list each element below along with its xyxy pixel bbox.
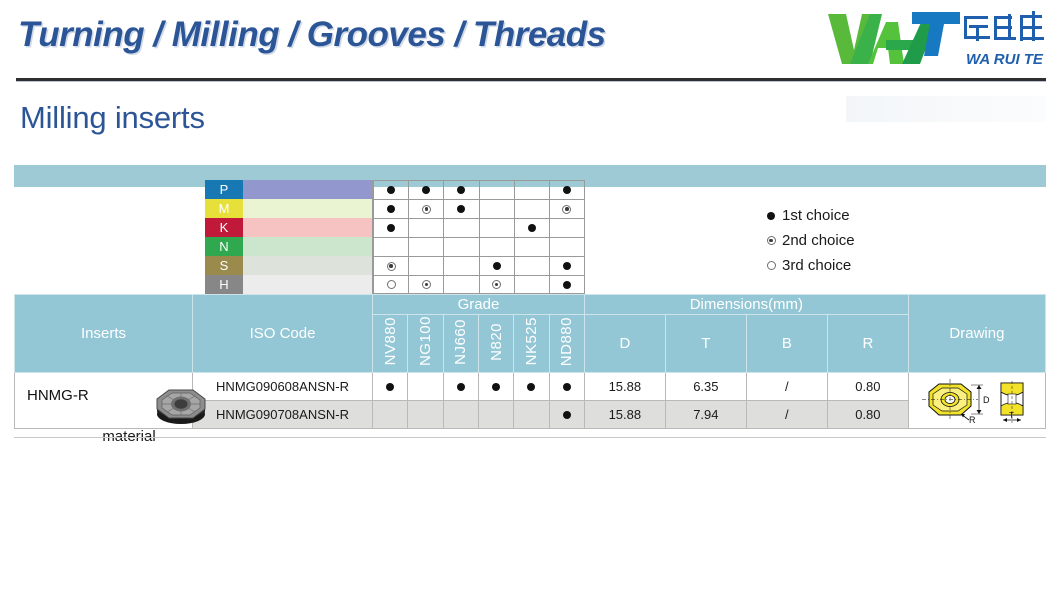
work-material-cell — [374, 238, 409, 256]
work-material-cell — [550, 200, 585, 218]
work-material-cell — [480, 200, 515, 218]
mark-first-choice — [528, 224, 536, 232]
work-material-cell — [374, 181, 409, 199]
work-material-cell — [374, 276, 409, 293]
material-swatch — [243, 180, 373, 199]
work-material-cell — [480, 181, 515, 199]
mark-second-choice — [387, 262, 396, 271]
work-material-cell — [444, 181, 479, 199]
material-code-s: S — [205, 256, 243, 275]
company-logo: WA RUI TE — [824, 6, 1048, 72]
page-title: Milling inserts — [20, 100, 205, 136]
work-material-row: M — [205, 199, 585, 218]
work-material-cell — [374, 219, 409, 237]
grade-cell — [514, 373, 549, 401]
col-header-inserts: Inserts — [15, 295, 193, 373]
work-material-cell — [515, 276, 550, 293]
work-material-cell — [409, 276, 444, 293]
work-material-row: S — [205, 256, 585, 275]
material-swatch — [243, 199, 373, 218]
grade-cell — [549, 401, 584, 429]
grade-cell — [443, 401, 478, 429]
logo-text-en: WA RUI TE — [966, 51, 1044, 68]
work-material-cell — [444, 200, 479, 218]
work-material-cell — [515, 181, 550, 199]
legend-marker — [760, 261, 782, 270]
grade-cell — [373, 401, 408, 429]
work-material-cell — [515, 200, 550, 218]
table-row: HNMG-R HNMG090608ANSN-R15.886.35/0.80 D … — [15, 373, 1046, 401]
table-body: HNMG-R HNMG090608ANSN-R15.886.35/0.80 D … — [15, 373, 1046, 429]
mark-first-choice — [422, 186, 430, 194]
insert-photo — [143, 378, 219, 426]
mark-second-choice — [562, 205, 571, 214]
mark-second-choice — [422, 205, 431, 214]
dimension-cell-t: 7.94 — [665, 401, 746, 429]
work-material-cell — [444, 257, 479, 275]
mark-first-choice — [527, 383, 535, 391]
grade-column-header: N820 — [478, 315, 513, 373]
material-swatch — [243, 237, 373, 256]
grade-column-header: NK525 — [514, 315, 549, 373]
dimension-cell-t: 6.35 — [665, 373, 746, 401]
work-material-row: P — [205, 180, 585, 199]
grade-cell — [478, 401, 513, 429]
mark-first-choice — [387, 186, 395, 194]
legend-label: 3rd choice — [782, 257, 851, 274]
drawing-cell: D R T — [908, 373, 1045, 429]
work-material-cell — [515, 257, 550, 275]
material-swatch — [243, 275, 373, 294]
mark-first-choice — [563, 262, 571, 270]
decorative-strip — [846, 96, 1046, 122]
mark-first-choice — [563, 281, 571, 289]
work-material-cell — [374, 200, 409, 218]
legend-marker — [760, 212, 782, 220]
work-material-cell — [444, 238, 479, 256]
mark-first-choice — [767, 212, 775, 220]
work-material-cell — [409, 219, 444, 237]
dimension-column-header: R — [827, 315, 908, 373]
dimension-cell-d: 15.88 — [584, 401, 665, 429]
dimension-cell-r: 0.80 — [827, 401, 908, 429]
work-material-cell — [550, 276, 585, 293]
material-swatch — [243, 256, 373, 275]
grade-cell — [373, 373, 408, 401]
insert-family-name: HNMG-R — [27, 387, 89, 404]
dimension-label-r: R — [969, 415, 976, 425]
mark-first-choice — [457, 383, 465, 391]
table-bottom-divider — [14, 437, 1046, 438]
legend-label: 2nd choice — [782, 232, 855, 249]
work-material-cell — [550, 257, 585, 275]
dimension-label-d: D — [983, 395, 990, 405]
mark-third-choice — [767, 261, 776, 270]
work-material-cell — [480, 219, 515, 237]
work-material-cell — [374, 257, 409, 275]
mark-first-choice — [563, 411, 571, 419]
mark-second-choice — [422, 280, 431, 289]
col-header-iso-code: ISO Code — [193, 295, 373, 373]
grade-cell — [514, 401, 549, 429]
header-title: Turning / Milling / Grooves / Threads — [18, 15, 606, 55]
work-material-cell — [444, 276, 479, 293]
dimension-column-header: T — [665, 315, 746, 373]
work-material-cell — [409, 181, 444, 199]
material-code-h: H — [205, 275, 243, 294]
grade-cell — [408, 373, 443, 401]
insert-spec-table: Inserts ISO Code Grade Dimensions(mm) Dr… — [14, 294, 1046, 429]
work-material-cell — [550, 181, 585, 199]
page-header: Turning / Milling / Grooves / Threads — [0, 0, 1060, 82]
mark-first-choice — [563, 186, 571, 194]
dimension-cell-b: / — [746, 401, 827, 429]
mark-first-choice — [563, 383, 571, 391]
grade-column-header: NG100 — [408, 315, 443, 373]
legend-item: 2nd choice — [760, 228, 855, 253]
work-material-cell — [480, 238, 515, 256]
mark-first-choice — [387, 205, 395, 213]
slide-page: Turning / Milling / Grooves / Threads — [0, 0, 1060, 600]
work-material-cell — [515, 238, 550, 256]
col-header-drawing: Drawing — [908, 295, 1045, 373]
work-material-cell — [480, 276, 515, 293]
mark-first-choice — [386, 383, 394, 391]
material-code-n: N — [205, 237, 243, 256]
work-material-cell — [550, 238, 585, 256]
insert-photo-wrap — [143, 378, 219, 426]
work-material-cell — [409, 200, 444, 218]
legend-marker — [760, 236, 782, 245]
dimension-cell-b: / — [746, 373, 827, 401]
legend-label: 1st choice — [782, 207, 850, 224]
grade-column-header: ND880 — [549, 315, 584, 373]
grade-cell — [443, 373, 478, 401]
col-header-grade: Grade — [373, 295, 585, 315]
header-divider — [16, 78, 1046, 81]
work-material-cell — [444, 219, 479, 237]
mark-third-choice — [387, 280, 396, 289]
work-material-cell — [550, 219, 585, 237]
material-code-m: M — [205, 199, 243, 218]
dimension-cell-d: 15.88 — [584, 373, 665, 401]
mark-second-choice — [492, 280, 501, 289]
material-code-p: P — [205, 180, 243, 199]
work-material-row: H — [205, 275, 585, 294]
insert-technical-drawing: D R T — [917, 376, 1035, 426]
work-material-cell — [409, 257, 444, 275]
drawing-art-wrap: D R T — [917, 376, 1035, 426]
choice-legend: 1st choice2nd choice3rd choice — [760, 203, 855, 278]
grade-cell — [549, 373, 584, 401]
work-material-cell — [515, 219, 550, 237]
dimension-column-header: D — [584, 315, 665, 373]
iso-code-cell: HNMG090708ANSN-R — [193, 401, 373, 429]
dimension-column-header: B — [746, 315, 827, 373]
grade-column-header: NV880 — [373, 315, 408, 373]
mark-first-choice — [387, 224, 395, 232]
mark-second-choice — [767, 236, 776, 245]
grade-cell — [408, 401, 443, 429]
material-swatch — [243, 218, 373, 237]
mark-first-choice — [457, 186, 465, 194]
grade-column-header: NJ660 — [443, 315, 478, 373]
work-material-row: N — [205, 237, 585, 256]
mark-first-choice — [457, 205, 465, 213]
dimension-label-t: T — [1009, 411, 1014, 420]
material-code-k: K — [205, 218, 243, 237]
grade-cell — [478, 373, 513, 401]
insert-family-cell: HNMG-R — [15, 373, 193, 429]
legend-item: 3rd choice — [760, 253, 855, 278]
col-header-dimensions: Dimensions(mm) — [584, 295, 908, 315]
dimension-cell-r: 0.80 — [827, 373, 908, 401]
iso-code-cell: HNMG090608ANSN-R — [193, 373, 373, 401]
work-material-cell — [480, 257, 515, 275]
work-material-matrix: PMKNSH — [205, 180, 585, 294]
work-material-row: K — [205, 218, 585, 237]
work-material-cell — [409, 238, 444, 256]
mark-first-choice — [492, 383, 500, 391]
legend-item: 1st choice — [760, 203, 855, 228]
mark-first-choice — [493, 262, 501, 270]
